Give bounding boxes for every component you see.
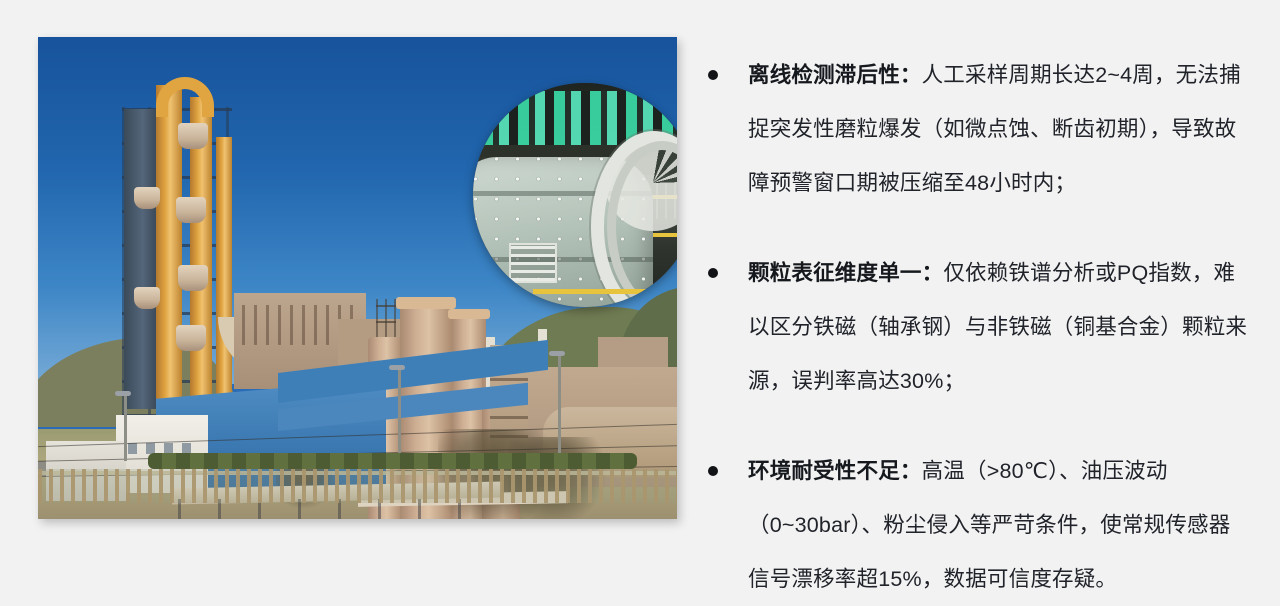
cyclone-stage-5 bbox=[134, 187, 160, 209]
ball-mill-inset bbox=[473, 83, 677, 307]
bullet-dot-icon bbox=[708, 466, 718, 476]
cyclone-stage-4 bbox=[176, 325, 206, 351]
list-item: 离线检测滞后性：人工采样周期长达2~4周，无法捕捉突发性磨粒爆发（如微点蚀、断齿… bbox=[704, 48, 1252, 210]
list-item: 环境耐受性不足：高温（>80℃）、油压波动（0~30bar）、粉尘侵入等严苛条件… bbox=[704, 444, 1252, 606]
cyclone-stage-1 bbox=[178, 123, 208, 149]
cement-plant-photo bbox=[38, 37, 677, 519]
street-lamp bbox=[398, 365, 401, 461]
cyclone-stage-3 bbox=[178, 265, 208, 291]
bullet-lead: 颗粒表征维度单一： bbox=[748, 261, 943, 285]
floor-marking bbox=[533, 289, 673, 294]
perimeter-fence bbox=[38, 469, 677, 503]
bullet-lead: 环境耐受性不足： bbox=[748, 459, 922, 483]
slide-root: 离线检测滞后性：人工采样周期长达2~4周，无法捕捉突发性磨粒爆发（如微点蚀、断齿… bbox=[0, 0, 1280, 553]
preheater-core bbox=[124, 109, 158, 409]
access-stair bbox=[509, 243, 557, 283]
cyclone-stage-2 bbox=[176, 197, 206, 223]
photo-canvas bbox=[38, 37, 677, 519]
list-item: 颗粒表征维度单一：仅依赖铁谱分析或PQ指数，难以区分铁磁（轴承钢）与非铁磁（铜基… bbox=[704, 246, 1252, 408]
silo-cap-1 bbox=[396, 297, 456, 309]
bullet-lead: 离线检测滞后性： bbox=[748, 63, 922, 87]
bullet-dot-icon bbox=[708, 268, 718, 278]
silo-cap-2 bbox=[448, 309, 490, 319]
street-lamp bbox=[558, 351, 561, 461]
bullet-dot-icon bbox=[708, 70, 718, 80]
street-lamp bbox=[124, 391, 127, 461]
cyclone-stage-6 bbox=[134, 287, 160, 309]
riser-duct-3 bbox=[216, 137, 232, 427]
pain-point-list: 离线检测滞后性：人工采样周期长达2~4周，无法捕捉突发性磨粒爆发（如微点蚀、断齿… bbox=[704, 48, 1252, 606]
window bbox=[128, 443, 137, 454]
hedge-row bbox=[148, 453, 637, 469]
